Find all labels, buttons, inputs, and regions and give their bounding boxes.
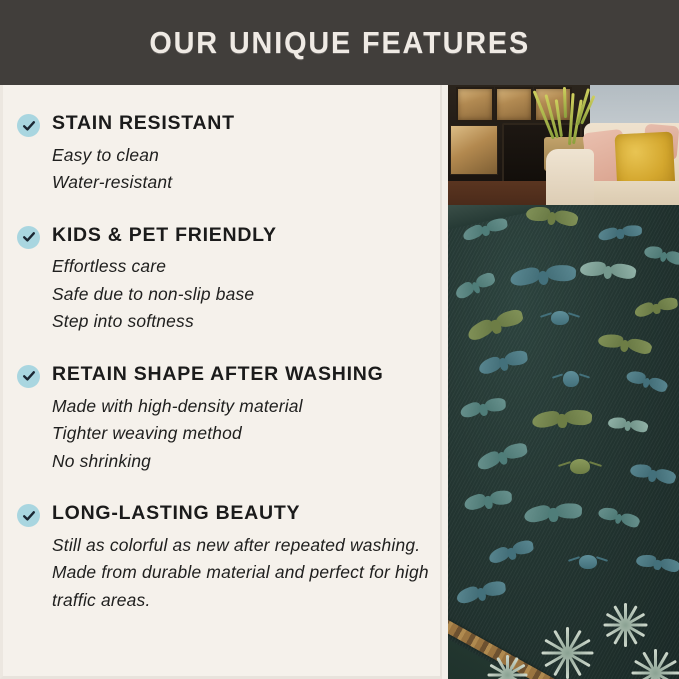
feature-detail-line: Step into softness: [52, 308, 430, 336]
check-circle-icon: [17, 504, 40, 527]
feature-detail-line: Tighter weaving method: [52, 420, 430, 448]
area-rug: [448, 205, 679, 679]
feature-item-long-lasting-beauty: LONG-LASTING BEAUTY Still as colorful as…: [17, 501, 430, 614]
feature-infographic: OUR UNIQUE FEATURES STAIN RESISTANT Easy…: [0, 0, 679, 679]
dragonfly-motif: [465, 307, 524, 343]
dragonfly-motif: [597, 332, 652, 354]
page-title: OUR UNIQUE FEATURES: [149, 25, 530, 61]
feature-text: STAIN RESISTANT Easy to clean Water-resi…: [52, 111, 430, 197]
dragonfly-motif: [477, 348, 529, 375]
feature-detail-line: No shrinking: [52, 448, 430, 476]
beetle-motif: [540, 309, 580, 327]
cabinet-panel: [495, 87, 533, 122]
header-bar: OUR UNIQUE FEATURES: [0, 0, 679, 85]
dragonfly-motif: [459, 396, 507, 418]
dragonfly-motif: [487, 538, 535, 565]
feature-item-retain-shape: RETAIN SHAPE AFTER WASHING Made with hig…: [17, 362, 430, 475]
room-photo: [448, 85, 679, 679]
feature-title: RETAIN SHAPE AFTER WASHING: [52, 362, 430, 388]
feature-detail-line: Easy to clean: [52, 142, 430, 170]
feature-detail-line: Safe due to non-slip base: [52, 281, 430, 309]
beetle-motif: [558, 457, 602, 476]
feature-title: STAIN RESISTANT: [52, 111, 430, 137]
cabinet-panel: [456, 87, 494, 122]
check-circle-icon: [17, 226, 40, 249]
feature-detail-paragraph: Still as colorful as new after repeated …: [52, 532, 430, 615]
dragonfly-motif: [509, 264, 576, 287]
dragonfly-motif: [643, 244, 679, 265]
dragonfly-motif: [580, 261, 637, 279]
stone-block: [450, 125, 498, 175]
dragonfly-motif: [633, 296, 679, 318]
feature-text: LONG-LASTING BEAUTY Still as colorful as…: [52, 501, 430, 614]
dragonfly-motif: [475, 441, 529, 472]
dragonfly-motif: [597, 224, 642, 241]
check-circle-icon: [17, 114, 40, 137]
dragonfly-motif: [629, 462, 677, 484]
check-circle-icon: [17, 365, 40, 388]
dragonfly-motif: [453, 270, 496, 300]
feature-text: RETAIN SHAPE AFTER WASHING Made with hig…: [52, 362, 430, 475]
feature-detail-line: Water-resistant: [52, 169, 430, 197]
beetle-motif: [552, 369, 590, 389]
dragonfly-motif: [635, 553, 679, 572]
beetle-motif: [568, 553, 608, 571]
dragonfly-motif: [597, 505, 641, 528]
feature-detail-line: Effortless care: [52, 253, 430, 281]
feature-item-stain-resistant: STAIN RESISTANT Easy to clean Water-resi…: [17, 111, 430, 197]
features-panel: STAIN RESISTANT Easy to clean Water-resi…: [0, 85, 442, 679]
feature-title: KIDS & PET FRIENDLY: [52, 223, 430, 249]
dragonfly-motif: [523, 502, 582, 523]
dragonfly-motif: [455, 579, 507, 605]
feature-text: KIDS & PET FRIENDLY Effortless care Safe…: [52, 223, 430, 336]
dragonfly-motif: [532, 409, 593, 428]
dragonfly-motif: [625, 369, 669, 393]
feature-detail-line: Made with high-density material: [52, 393, 430, 421]
dragonfly-motif: [463, 489, 513, 511]
feature-title: LONG-LASTING BEAUTY: [52, 501, 430, 527]
feature-item-kids-pet-friendly: KIDS & PET FRIENDLY Effortless care Safe…: [17, 223, 430, 336]
dragonfly-motif: [607, 416, 648, 432]
rug-pattern: [448, 205, 679, 679]
dragonfly-motif: [525, 205, 578, 226]
